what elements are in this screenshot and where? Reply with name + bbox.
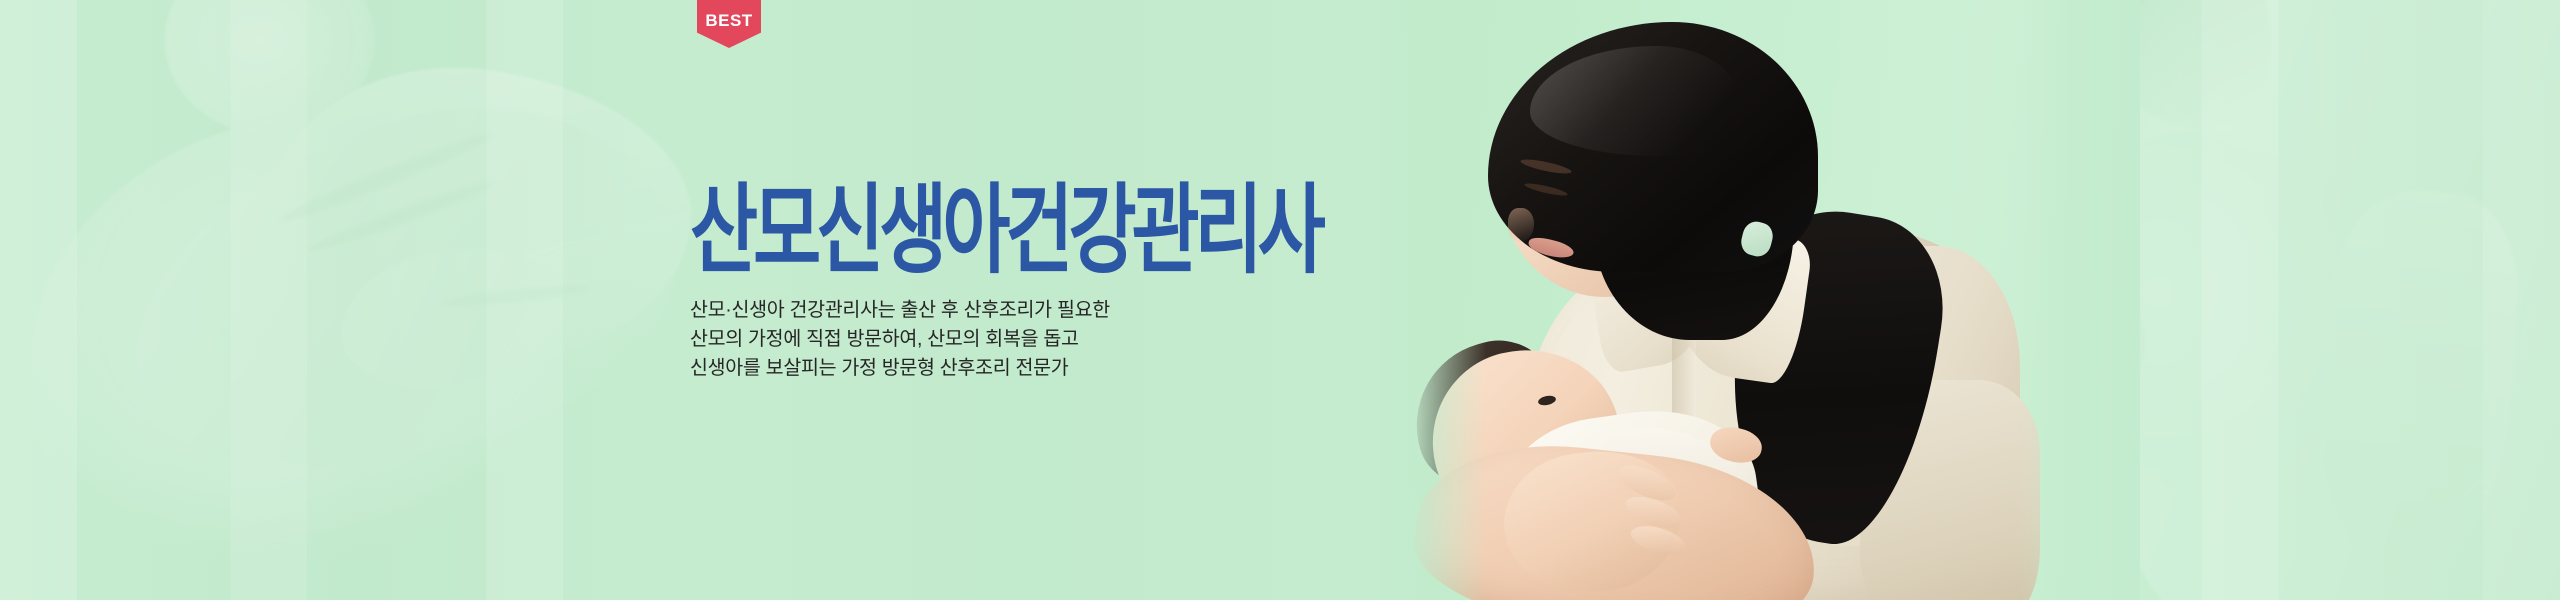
best-badge[interactable]: BEST bbox=[697, 0, 761, 48]
photo-edge-fade bbox=[1380, 0, 2140, 600]
badge-label: BEST bbox=[705, 12, 752, 29]
hero-photo-mother-and-newborn bbox=[1380, 0, 2140, 600]
description-line: 산모의 가정에 직접 방문하여, 산모의 회복을 돕고 bbox=[690, 325, 1110, 354]
description-line: 산모·신생아 건강관리사는 출산 후 산후조리가 필요한 bbox=[690, 296, 1110, 325]
page-title: 산모신생아건강관리사 bbox=[690, 182, 1321, 280]
ghost-image-left bbox=[0, 0, 730, 600]
description-line: 신생아를 보살피는 가정 방문형 산후조리 전문가 bbox=[690, 354, 1110, 383]
promo-banner[interactable]: BEST 산모신생아건강관리사 산모·신생아 건강관리사는 출산 후 산후조리가… bbox=[0, 0, 2560, 600]
banner-description: 산모·신생아 건강관리사는 출산 후 산후조리가 필요한 산모의 가정에 직접 … bbox=[690, 296, 1110, 383]
